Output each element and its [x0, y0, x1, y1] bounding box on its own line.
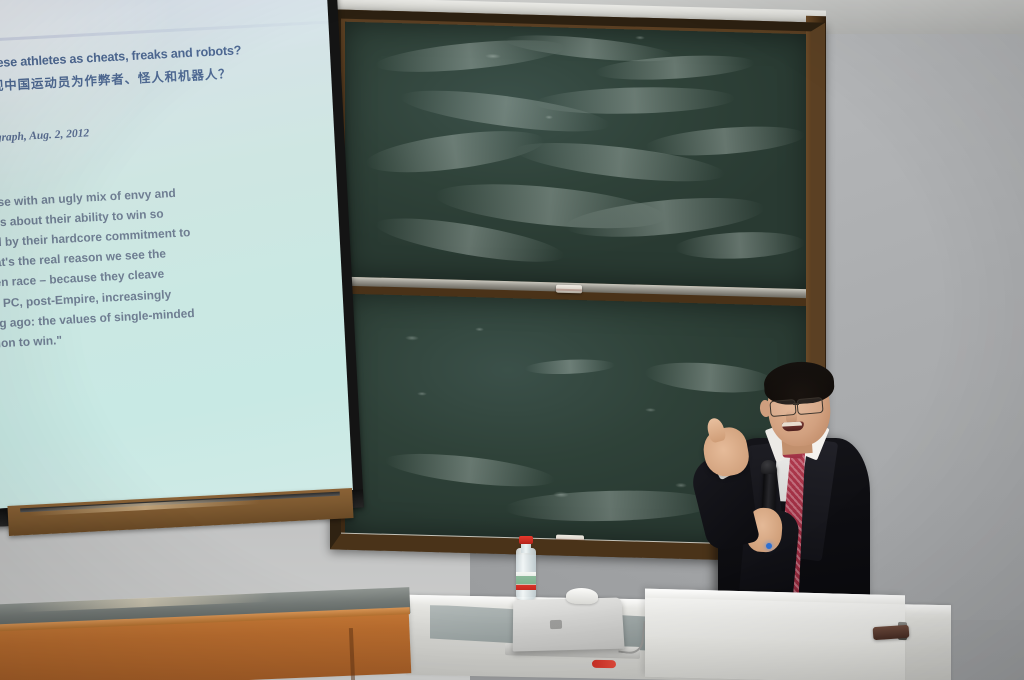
water-bottle-label-band [516, 576, 536, 584]
water-bottle-cap[interactable] [519, 536, 533, 544]
cup-lid[interactable] [566, 588, 598, 605]
microphone-head-icon [761, 460, 777, 475]
projection-screen: upon Chinese athletes as cheats, freaks … [0, 0, 364, 528]
chalk-eraser-lower[interactable] [556, 535, 584, 545]
lecture-hall-photo: upon Chinese athletes as cheats, freaks … [0, 0, 1024, 680]
chalkboard-upper-panel [345, 22, 810, 290]
red-handle[interactable] [592, 660, 616, 668]
laptop-lid[interactable] [513, 597, 625, 651]
eyeglasses-left-lens [769, 399, 796, 417]
eyeglasses-right-lens [796, 397, 823, 415]
leather-wallet[interactable] [873, 625, 910, 640]
projected-slide: upon Chinese athletes as cheats, freaks … [0, 0, 353, 510]
microphone-led-icon [766, 543, 772, 549]
chalk-eraser-upper[interactable] [556, 285, 582, 294]
podium-front-panel [645, 637, 905, 680]
laptop-logo-icon [550, 620, 562, 629]
eyeglasses-bridge [793, 403, 799, 405]
presenter [690, 360, 890, 625]
slide-body: the Chinese with an ugly mix of envy and… [0, 175, 335, 356]
